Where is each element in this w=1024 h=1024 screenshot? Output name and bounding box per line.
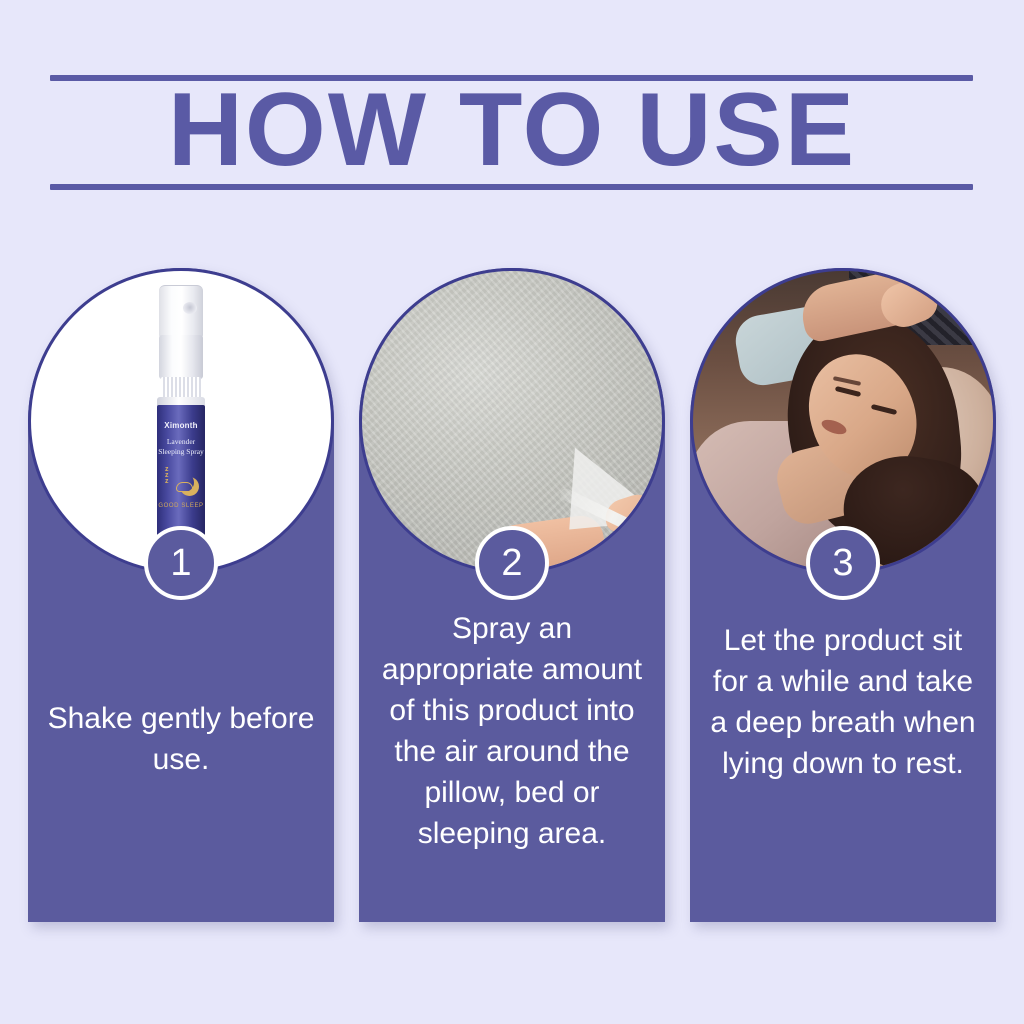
step-caption-1: Shake gently before use. [44,698,318,780]
cloud-icon [176,482,193,492]
zzz-icon: zzz [165,467,169,485]
bottle-cap [159,285,203,338]
bottle-ribbed-ring [161,377,201,399]
step-card-2[interactable]: 2 Spray an appropriate amount of this pr… [359,268,665,922]
step-caption-2: Spray an appropriate amount of this prod… [375,608,649,854]
bottle-product-name: LavenderSleeping Spray [157,437,205,457]
step-card-3[interactable]: 3 Let the product sit for a while and ta… [690,268,996,922]
good-sleep-logo: zzz [157,467,205,501]
step-badge-2: 2 [475,526,549,600]
step-badge-1: 1 [144,526,218,600]
bottle-collar [159,335,203,379]
step-card-1[interactable]: Ximonth LavenderSleeping Spray zzz GOOD … [28,268,334,922]
step-caption-3: Let the product sit for a while and take… [706,620,980,784]
bottle-nozzle [183,302,197,314]
steps-container: Ximonth LavenderSleeping Spray zzz GOOD … [0,0,1024,1024]
bottle-tagline: GOOD SLEEP [157,503,205,509]
step-badge-3: 3 [806,526,880,600]
bottle-brand-text: Ximonth [157,421,205,430]
